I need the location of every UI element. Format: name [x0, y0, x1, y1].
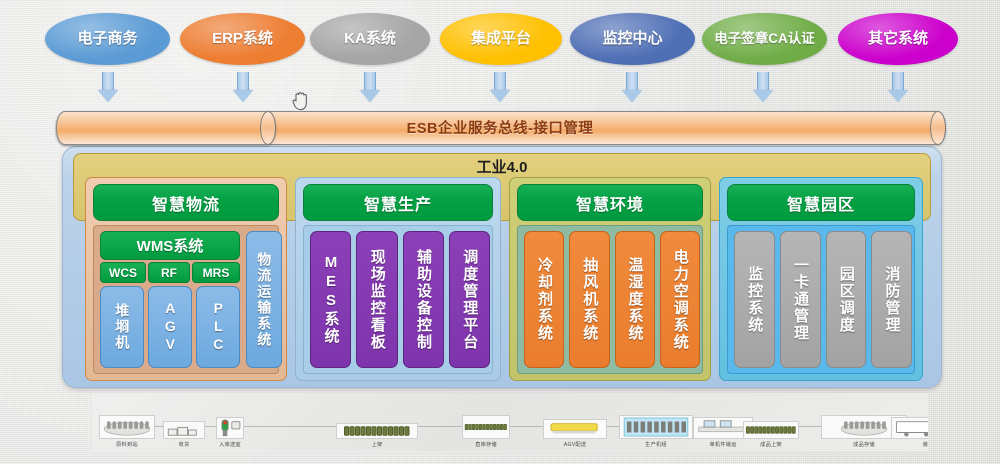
section-logistics[interactable]: 智慧物流WMS系统WCSRFMRS堆埛机AGVPLC物流运输系统: [85, 177, 287, 381]
wms-system-box[interactable]: WMS系统: [100, 231, 240, 260]
external-system-label: 集成平台: [471, 31, 531, 48]
external-system-ellipse[interactable]: 电子商务: [45, 13, 170, 65]
external-system-label: KA系统: [344, 31, 396, 48]
park-module-box[interactable]: 园区调度: [826, 231, 867, 368]
external-system-label: 其它系统: [868, 31, 928, 48]
flow-node: 成品上架: [743, 421, 799, 448]
external-system-ellipse[interactable]: 集成平台: [440, 13, 562, 65]
environment-module-box[interactable]: 抽风机系统: [569, 231, 609, 368]
industry40-panel: 工业4.0 智慧物流WMS系统WCSRFMRS堆埛机AGVPLC物流运输系统智慧…: [62, 146, 942, 388]
flow-node: AGV配送: [543, 419, 607, 448]
environment-module-box[interactable]: 电力空调系统: [660, 231, 700, 368]
down-arrow-icon: [233, 72, 253, 102]
production-module-box[interactable]: 现场监控看板: [356, 231, 397, 368]
external-system-ellipse[interactable]: KA系统: [310, 13, 430, 65]
down-arrow-icon: [888, 72, 908, 102]
flow-node-label: 直库存储: [463, 440, 509, 448]
flow-node-thumbnail: [336, 423, 418, 439]
section-title-park: 智慧园区: [727, 184, 915, 221]
logistics-device-box[interactable]: 堆埛机: [100, 286, 144, 368]
section-park[interactable]: 智慧园区监控系统一卡通管理园区调度消防管理: [719, 177, 923, 381]
production-module-box[interactable]: MES系统: [310, 231, 351, 368]
section-title-production: 智慧生产: [303, 184, 493, 221]
grab-hand-cursor: [290, 88, 312, 112]
section-title-logistics: 智慧物流: [93, 184, 279, 221]
down-arrow-icon: [622, 72, 642, 102]
down-arrow-icon: [490, 72, 510, 102]
flow-node-thumbnail: [216, 417, 244, 439]
flow-node: 收货: [163, 421, 205, 448]
external-system-label: 电子签章: [714, 31, 768, 46]
section-body-park: 监控系统一卡通管理园区调度消防管理: [727, 225, 915, 374]
esb-service-bus[interactable]: ESB企业服务总线-接口管理: [56, 111, 944, 143]
section-title-environment: 智慧环境: [517, 184, 703, 221]
flow-node-label: 入库送室: [217, 440, 244, 448]
external-system-label: CA认证: [768, 31, 815, 46]
flow-node-thumbnail: [891, 417, 928, 439]
flow-node-thumbnail: [462, 415, 510, 439]
park-module-box[interactable]: 消防管理: [871, 231, 912, 368]
logistics-device-box[interactable]: PLC: [196, 286, 240, 368]
subsystem-chip[interactable]: MRS: [192, 262, 240, 283]
flow-node-label: 成品上架: [744, 440, 797, 448]
flow-node: 生产机组: [619, 415, 693, 448]
section-body-logistics: WMS系统WCSRFMRS堆埛机AGVPLC物流运输系统: [93, 225, 279, 374]
external-system-ellipse[interactable]: 监控中心: [570, 13, 695, 65]
flow-node-thumbnail: [619, 415, 693, 439]
logistics-device-box[interactable]: AGV: [148, 286, 192, 368]
flow-node: 入库送室: [216, 417, 244, 448]
flow-node-thumbnail: [99, 415, 155, 439]
flow-node-thumbnail: [743, 421, 799, 439]
flow-node-label: 上架: [338, 440, 416, 448]
down-arrow-icon: [98, 72, 118, 102]
external-system-ellipse[interactable]: ERP系统: [180, 13, 305, 65]
environment-module-box[interactable]: 冷却剂系统: [524, 231, 564, 368]
diagram-canvas: 电子商务ERP系统KA系统集成平台监控中心电子签章CA认证其它系统 ESB企业服…: [0, 0, 1000, 464]
industry40-title: 工业4.0: [63, 156, 941, 177]
down-arrow-icon: [753, 72, 773, 102]
flow-node: 上架: [336, 423, 418, 448]
flow-node-label: AGV配送: [545, 440, 606, 448]
flow-node-label: 收货: [164, 440, 204, 448]
section-body-production: MES系统现场监控看板辅助设备控制调度管理平台: [303, 225, 493, 374]
section-production[interactable]: 智慧生产MES系统现场监控看板辅助设备控制调度管理平台: [295, 177, 501, 381]
environment-module-box[interactable]: 温湿度系统: [615, 231, 655, 368]
external-system-label: ERP系统: [212, 31, 273, 48]
external-system-label: 监控中心: [602, 31, 662, 48]
production-module-box[interactable]: 辅助设备控制: [403, 231, 444, 368]
external-system-ellipse[interactable]: 电子签章CA认证: [702, 13, 827, 65]
flow-node: 原料到站: [99, 415, 155, 448]
subsystem-chip[interactable]: RF: [148, 262, 190, 283]
park-module-box[interactable]: 监控系统: [734, 231, 775, 368]
subsystem-chip[interactable]: WCS: [100, 262, 146, 283]
down-arrow-icon: [360, 72, 380, 102]
process-flow-strip: 原料到站收货入库送室上架直库存储AGV配送生产机组单机件输运成品上架成品存储装车: [92, 393, 928, 451]
flow-node-label: 装车: [893, 440, 928, 448]
flow-node: 直库存储: [462, 415, 510, 448]
section-environment[interactable]: 智慧环境冷却剂系统抽风机系统温湿度系统电力空调系统: [509, 177, 711, 381]
flow-node: 装车: [891, 417, 928, 448]
flow-node-label: 生产机组: [621, 440, 691, 448]
section-body-environment: 冷却剂系统抽风机系统温湿度系统电力空调系统: [517, 225, 703, 374]
logistics-transport-box[interactable]: 物流运输系统: [246, 231, 282, 368]
flow-node-label: 原料到站: [100, 440, 153, 448]
esb-label: ESB企业服务总线-接口管理: [56, 111, 944, 143]
production-module-box[interactable]: 调度管理平台: [449, 231, 490, 368]
external-system-label: 电子商务: [77, 31, 137, 48]
park-module-box[interactable]: 一卡通管理: [780, 231, 821, 368]
external-system-ellipse[interactable]: 其它系统: [838, 13, 958, 65]
flow-node-thumbnail: [543, 419, 607, 439]
flow-node-thumbnail: [163, 421, 205, 439]
